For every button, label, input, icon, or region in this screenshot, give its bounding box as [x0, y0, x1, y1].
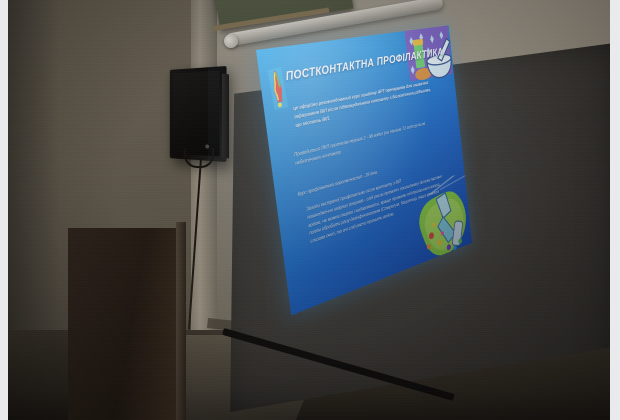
photograph: ПОСТКОНТАКТНА ПРОФІЛАКТИКА це офіційно р…: [8, 0, 610, 420]
photo-scene: ПОСТКОНТАКТНА ПРОФІЛАКТИКА це офіційно р…: [0, 0, 620, 420]
dark-door: [68, 228, 180, 420]
door-jamb: [176, 222, 186, 420]
projection-screen-assembly: ПОСТКОНТАКТНА ПРОФІЛАКТИКА це офіційно р…: [208, 6, 610, 418]
letterbox-left: [0, 0, 8, 420]
letterbox-right: [610, 0, 620, 420]
